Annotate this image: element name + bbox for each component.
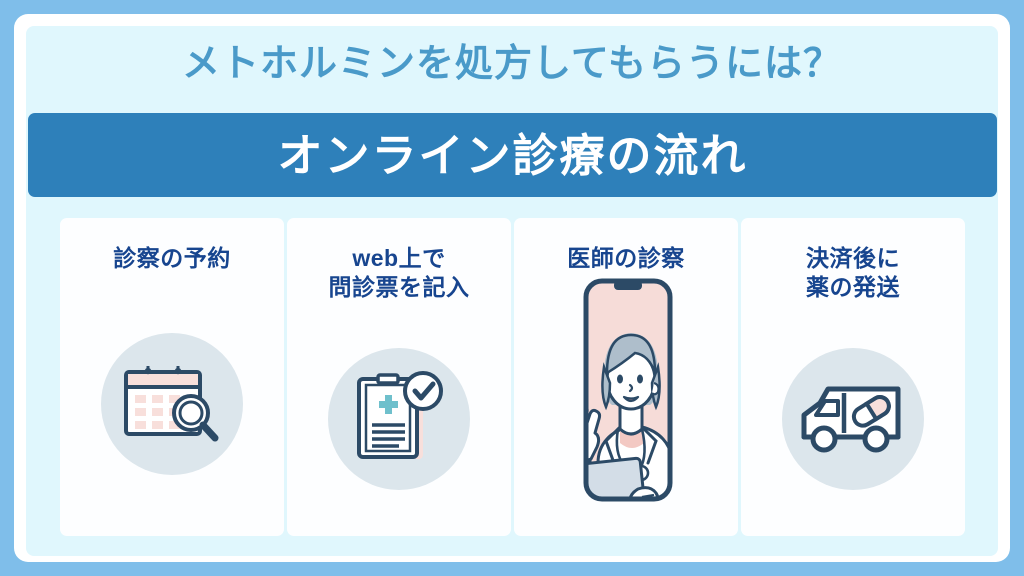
doctor-on-smartphone-illustration xyxy=(546,275,706,507)
infographic-root: メトホルミンを処方してもらうには？ オンライン診療の流れ 診察の予約 xyxy=(0,0,1024,576)
icon-circle-2 xyxy=(328,348,470,490)
step-label-3: 医師の診察 xyxy=(567,244,685,273)
step-label-2: web上で 問診票を記入 xyxy=(329,244,470,302)
steps-row: 診察の予約 xyxy=(60,218,965,536)
banner-title: オンライン診療の流れ xyxy=(277,133,747,178)
step-label-4: 決済後に 薬の発送 xyxy=(806,244,900,302)
banner: オンライン診療の流れ xyxy=(28,113,997,197)
step-card-2[interactable]: web上で 問診票を記入 xyxy=(287,218,511,536)
icon-circle-1 xyxy=(101,333,243,475)
step-card-1[interactable]: 診察の予約 xyxy=(60,218,284,536)
clipboard-check-icon xyxy=(351,369,447,469)
step-card-3[interactable]: 医師の診察 xyxy=(514,218,738,536)
step-icon-area-1 xyxy=(60,273,284,536)
delivery-truck-medicine-icon xyxy=(798,379,908,459)
step-icon-area-4 xyxy=(741,302,965,537)
step-icon-area-3 xyxy=(514,273,738,536)
step-card-4[interactable]: 決済後に 薬の発送 xyxy=(741,218,965,536)
icon-circle-4 xyxy=(782,348,924,490)
step-icon-area-2 xyxy=(287,302,511,537)
phone-holder xyxy=(546,275,706,505)
page-headline: メトホルミンを処方してもらうには？ xyxy=(26,44,998,86)
calendar-search-icon xyxy=(120,358,224,450)
step-label-1: 診察の予約 xyxy=(113,244,231,273)
